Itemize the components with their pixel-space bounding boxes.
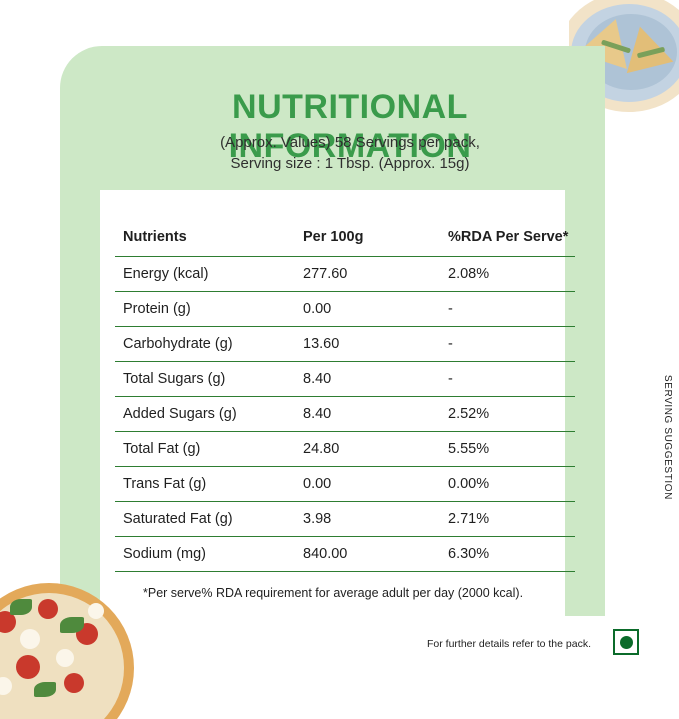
pizza-image (0, 559, 139, 719)
cell-nutrient: Total Sugars (g) (115, 362, 303, 397)
cell-per-100g: 8.40 (303, 362, 448, 397)
cell-per-100g: 0.00 (303, 467, 448, 502)
rda-footnote: *Per serve% RDA requirement for average … (143, 586, 523, 600)
cell-rda: 2.71% (448, 502, 575, 537)
cell-nutrient: Trans Fat (g) (115, 467, 303, 502)
pizza-tomato (16, 655, 40, 679)
nutrition-table: Nutrients Per 100g %RDA Per Serve* Energ… (115, 218, 575, 572)
table-row: Trans Fat (g) 0.00 0.00% (115, 467, 575, 502)
cell-rda: 5.55% (448, 432, 575, 467)
cell-per-100g: 3.98 (303, 502, 448, 537)
cell-rda: - (448, 292, 575, 327)
cell-per-100g: 277.60 (303, 257, 448, 292)
column-header-per-100g: Per 100g (303, 218, 448, 257)
nutrition-table-area: Nutrients Per 100g %RDA Per Serve* Energ… (115, 218, 570, 572)
veg-mark-icon (613, 629, 639, 655)
pizza-tomato (38, 599, 58, 619)
cell-nutrient: Total Fat (g) (115, 432, 303, 467)
table-row: Added Sugars (g) 8.40 2.52% (115, 397, 575, 432)
cell-nutrient: Energy (kcal) (115, 257, 303, 292)
pizza-tomato (64, 673, 84, 693)
cell-rda: 2.08% (448, 257, 575, 292)
pizza-mozzarella (20, 629, 40, 649)
table-row: Saturated Fat (g) 3.98 2.71% (115, 502, 575, 537)
cell-nutrient: Carbohydrate (g) (115, 327, 303, 362)
further-details-note: For further details refer to the pack. (427, 638, 591, 650)
subtitle-line-2: Serving size : 1 Tbsp. (Approx. 15g) (115, 153, 585, 174)
table-header-row: Nutrients Per 100g %RDA Per Serve* (115, 218, 575, 257)
cell-rda: 0.00% (448, 467, 575, 502)
table-row: Protein (g) 0.00 - (115, 292, 575, 327)
table-row: Sodium (mg) 840.00 6.30% (115, 537, 575, 572)
cell-per-100g: 24.80 (303, 432, 448, 467)
cell-per-100g: 8.40 (303, 397, 448, 432)
table-row: Total Fat (g) 24.80 5.55% (115, 432, 575, 467)
serving-subtitle: (Approx. Values) 58 Servings per pack, S… (115, 132, 585, 174)
cell-per-100g: 13.60 (303, 327, 448, 362)
serving-suggestion-label: SERVING SUGGESTION (662, 375, 673, 500)
pizza-basil (10, 599, 32, 615)
cell-rda: 6.30% (448, 537, 575, 572)
pizza-mozzarella (56, 649, 74, 667)
cell-nutrient: Sodium (mg) (115, 537, 303, 572)
veg-mark-dot (620, 636, 633, 649)
subtitle-line-1: (Approx. Values) 58 Servings per pack, (115, 132, 585, 153)
cell-per-100g: 840.00 (303, 537, 448, 572)
table-row: Energy (kcal) 277.60 2.08% (115, 257, 575, 292)
pizza-basil (34, 682, 56, 697)
table-row: Total Sugars (g) 8.40 - (115, 362, 575, 397)
pizza-mozzarella (88, 603, 104, 619)
table-row: Carbohydrate (g) 13.60 - (115, 327, 575, 362)
cell-rda: 2.52% (448, 397, 575, 432)
cell-per-100g: 0.00 (303, 292, 448, 327)
pizza-basil (60, 617, 84, 633)
cell-nutrient: Saturated Fat (g) (115, 502, 303, 537)
cell-nutrient: Added Sugars (g) (115, 397, 303, 432)
cell-nutrient: Protein (g) (115, 292, 303, 327)
cell-rda: - (448, 362, 575, 397)
column-header-nutrients: Nutrients (115, 218, 303, 257)
cell-rda: - (448, 327, 575, 362)
column-header-rda: %RDA Per Serve* (448, 218, 575, 257)
